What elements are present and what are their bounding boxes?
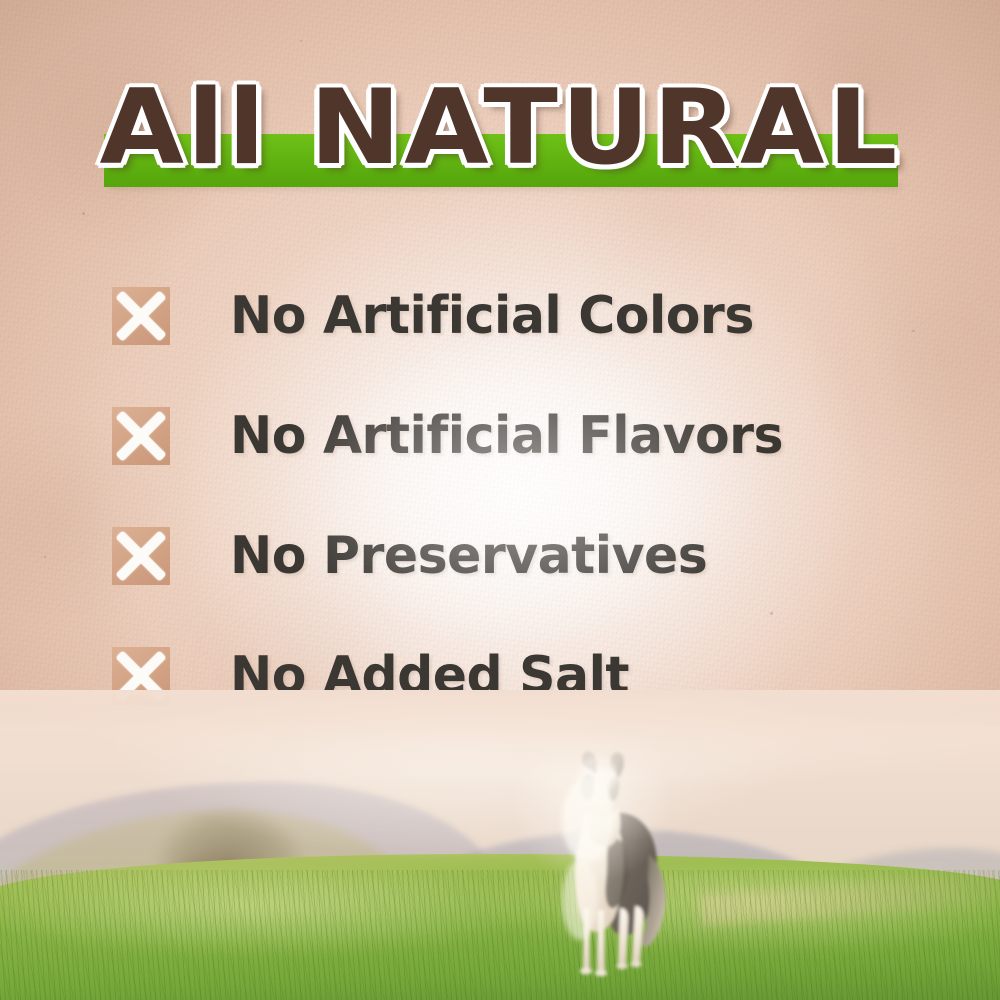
page-title: All NATURAL	[0, 72, 1000, 184]
feature-label: No Artificial Colors	[230, 287, 754, 345]
all-natural-poster: All NATURAL No Artificial Colors No Arti…	[0, 0, 1000, 1000]
x-mark-icon	[112, 407, 170, 465]
landscape-photo	[0, 690, 1000, 1000]
feature-list: No Artificial Colors No Artificial Flavo…	[112, 256, 942, 736]
feature-row: No Preservatives	[112, 496, 942, 616]
feature-row: No Artificial Flavors	[112, 376, 942, 496]
x-mark-icon	[112, 527, 170, 585]
feature-label: No Artificial Flavors	[230, 407, 783, 465]
feature-row: No Artificial Colors	[112, 256, 942, 376]
x-mark-icon	[112, 287, 170, 345]
grass-blade-texture	[0, 870, 1000, 1000]
title-block: All NATURAL	[0, 72, 1000, 200]
feature-label: No Preservatives	[230, 527, 707, 585]
border-collie-dog	[536, 750, 696, 988]
